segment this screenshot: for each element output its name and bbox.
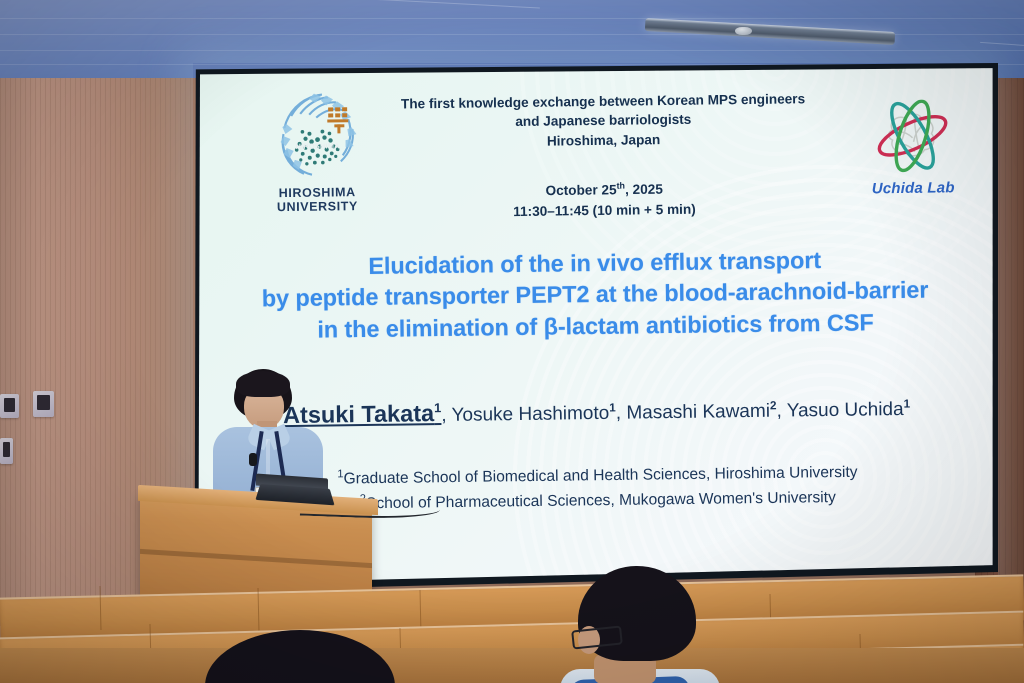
presenter-fringe [236,371,290,397]
floor [0,648,1024,683]
wall-outlet-plate[interactable] [0,438,13,464]
author-list: Atsuki Takata1, Yosuke Hashimoto1, Masas… [207,391,986,432]
author-2: , Yosuke Hashimoto [441,403,609,426]
uchida-lab-logo: Uchida Lab [852,99,973,198]
smoke-detector-icon [735,27,752,35]
event-header: The first knowledge exchange between Kor… [343,88,864,153]
wall-switch-plate[interactable] [0,394,19,418]
event-date-ordinal: th [616,181,625,191]
uchida-lab-atom-brain-icon [858,99,967,182]
svg-text:HIROSHIMA: HIROSHIMA [296,141,341,151]
event-datetime: October 25th, 2025 11:30–11:45 (10 min +… [374,177,835,224]
lecture-hall-photo: HIROSHIMA [0,0,1024,683]
affiliation-text: Graduate School of Biomedical and Health… [343,464,857,488]
author-4: , Yasuo Uchida [776,399,903,422]
audience-hair [205,630,395,683]
event-date-text: October 25 [545,182,616,198]
author-3: , Masashi Kawami [616,401,770,424]
presentation-title: Elucidation of the in vivo efflux transp… [205,243,985,348]
hiroshima-university-label: HIROSHIMA UNIVERSITY [242,185,392,215]
audience-member-back [205,630,395,683]
event-date-year: , 2025 [625,182,663,197]
clip-microphone-icon [249,453,257,466]
wall-switch-plate[interactable] [33,391,54,417]
author-4-affil-marker: 1 [903,398,910,411]
audience-member-front [560,566,725,683]
